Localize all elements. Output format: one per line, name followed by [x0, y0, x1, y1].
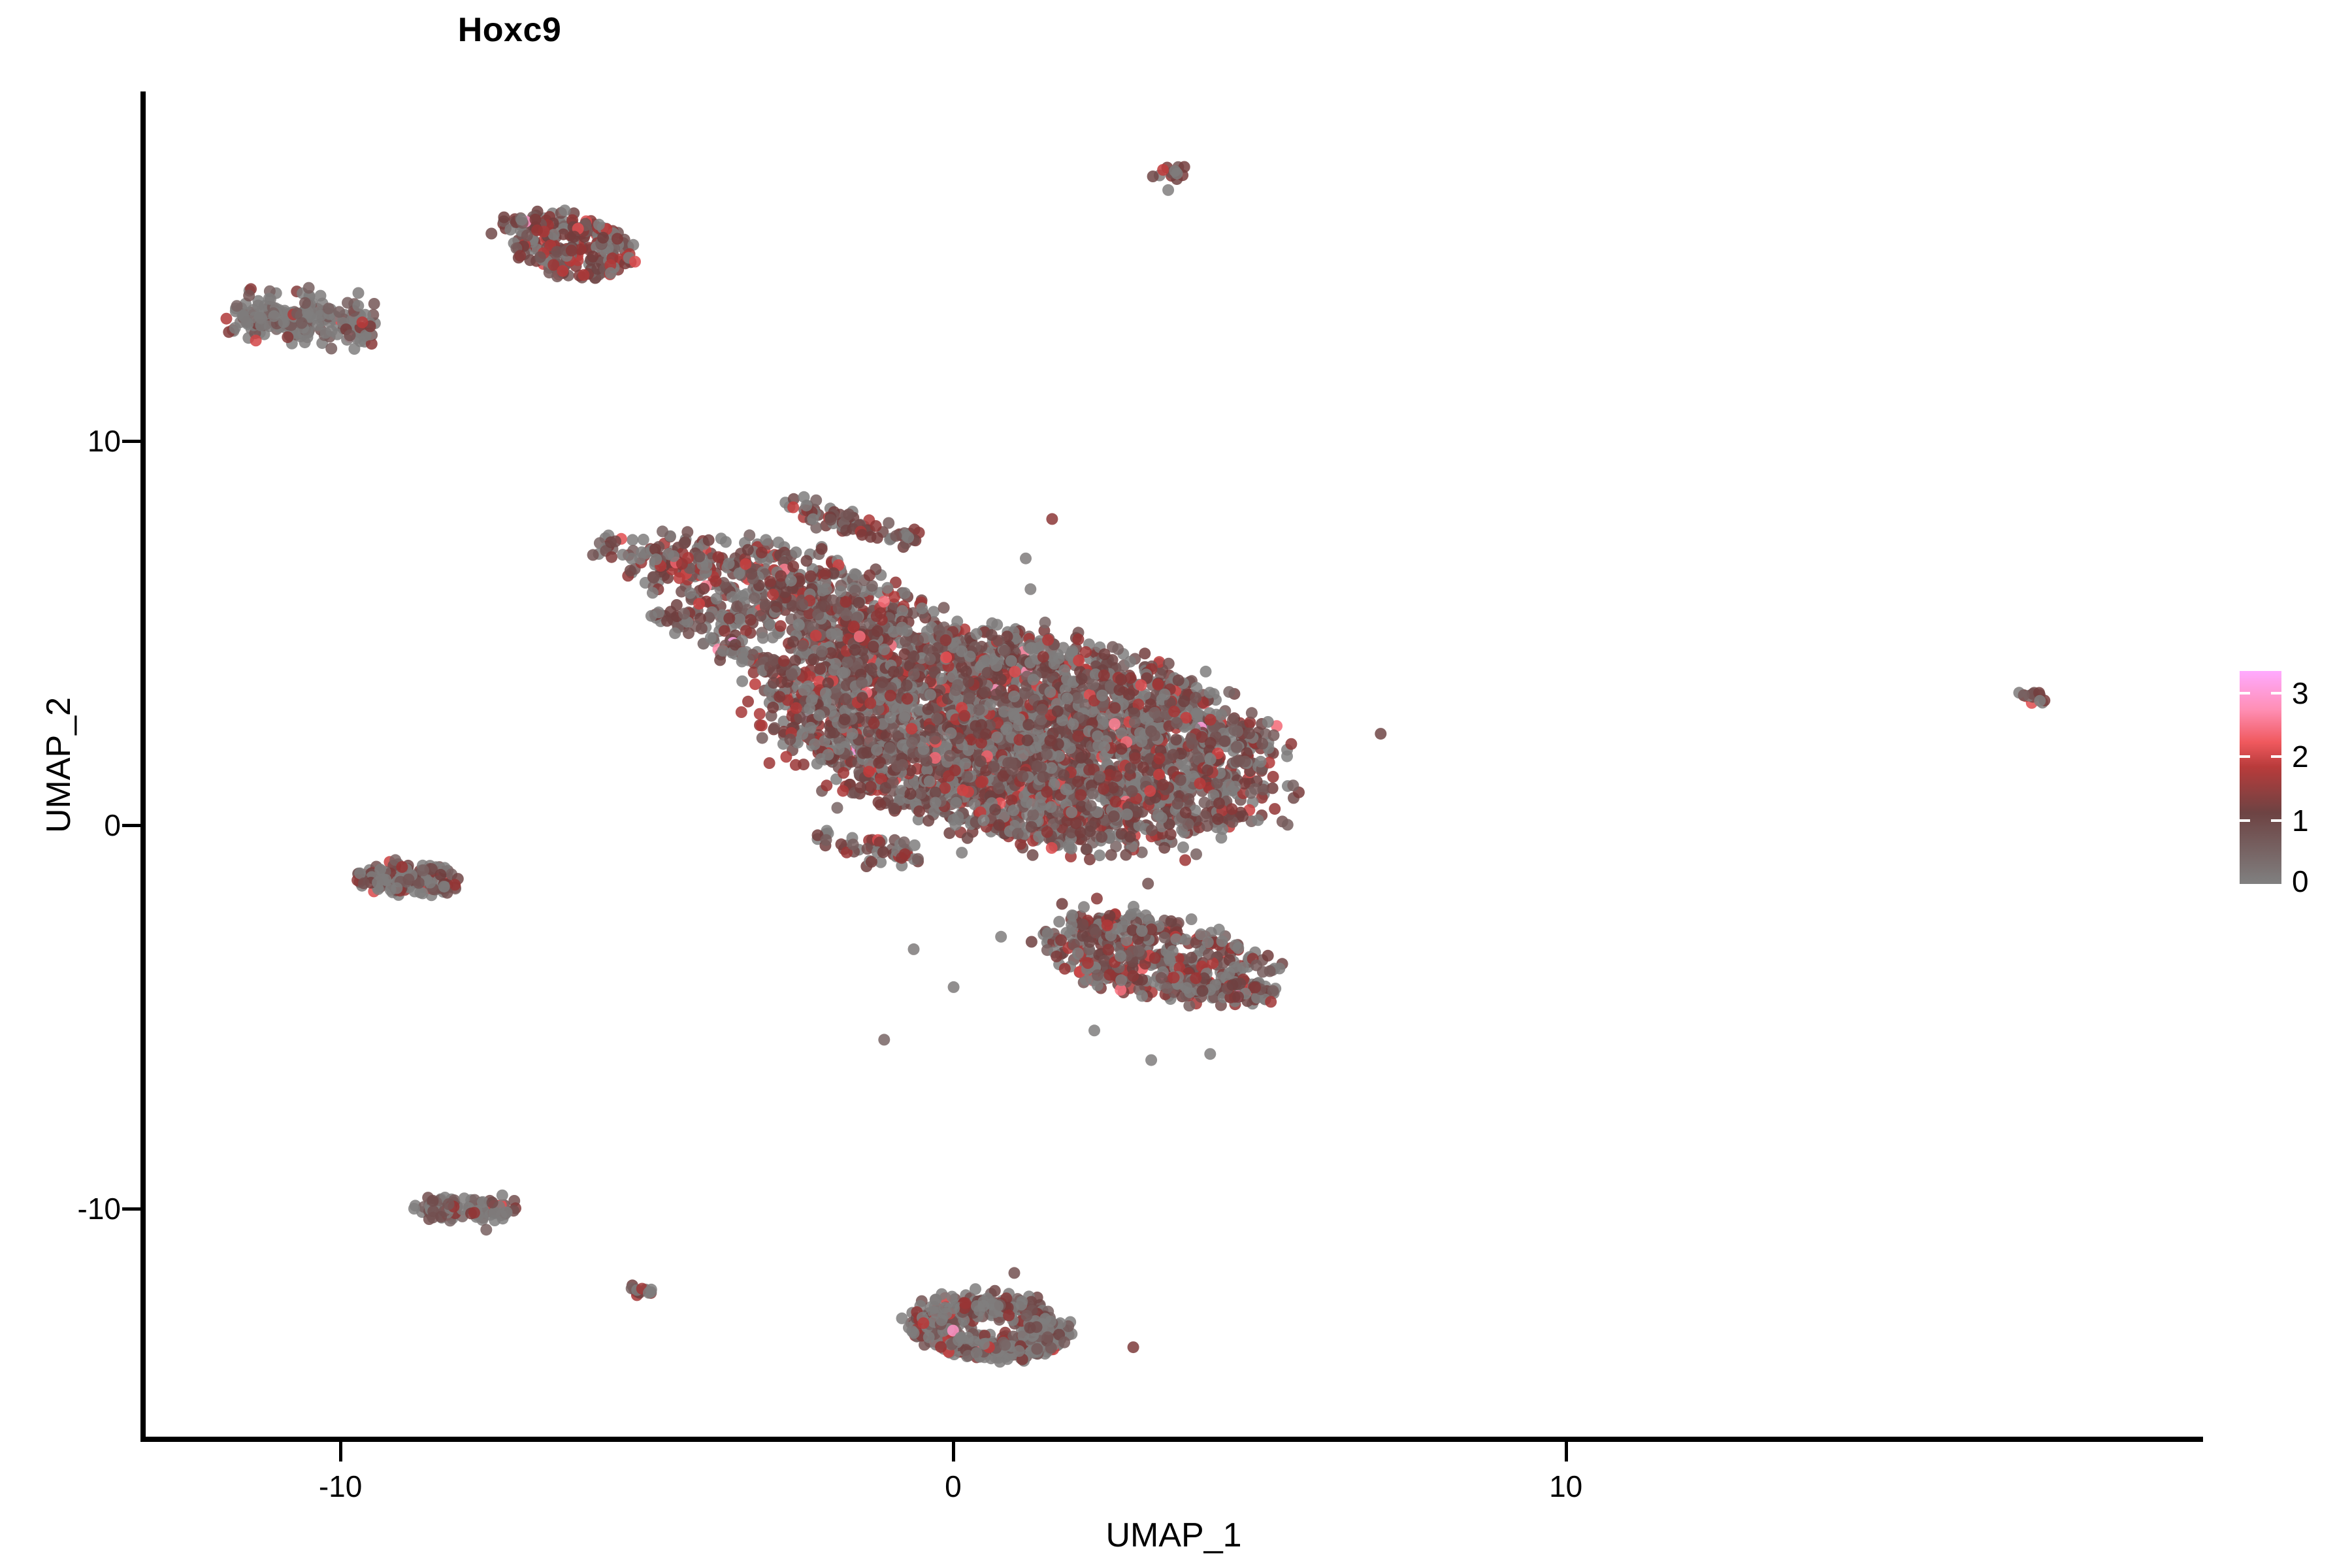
colorbar-tick — [2240, 819, 2250, 822]
y-tick-label: 0 — [104, 808, 121, 843]
page-title: Hoxc9 — [0, 10, 1686, 50]
colorbar-legend[interactable]: 3210 — [2240, 671, 2281, 884]
colorbar-label: 3 — [2292, 676, 2309, 711]
x-axis-title: UMAP_1 — [144, 1516, 2203, 1555]
colorbar-label: 1 — [2292, 803, 2309, 838]
x-tick — [339, 1442, 342, 1462]
x-tick-label: 10 — [1549, 1469, 1582, 1504]
y-tick — [122, 1207, 142, 1211]
colorbar-tick — [2271, 819, 2281, 822]
colorbar-tick — [2240, 755, 2250, 758]
x-tick — [1565, 1442, 1568, 1462]
y-tick — [122, 440, 142, 443]
x-tick-label: 0 — [945, 1469, 962, 1504]
y-tick-label: -10 — [78, 1191, 121, 1226]
colorbar-label: 2 — [2292, 739, 2309, 774]
umap-feature-plot: Hoxc9 100-10-10010 UMAP_1 UMAP_2 3210 — [0, 0, 2352, 1568]
colorbar-tick — [2240, 692, 2250, 694]
colorbar-label: 0 — [2292, 864, 2309, 899]
colorbar-gradient — [2240, 671, 2281, 884]
x-tick-label: -10 — [319, 1469, 362, 1504]
x-axis-line — [144, 1437, 2203, 1442]
plot-panel — [144, 91, 2203, 1439]
y-axis-line — [140, 91, 146, 1442]
x-tick — [952, 1442, 955, 1462]
colorbar-tick — [2271, 692, 2281, 694]
y-tick — [122, 824, 142, 827]
y-axis-title: UMAP_2 — [39, 373, 78, 1157]
scatter-points-layer — [144, 91, 2203, 1439]
colorbar-tick — [2271, 755, 2281, 758]
y-tick-label: 10 — [88, 423, 121, 459]
